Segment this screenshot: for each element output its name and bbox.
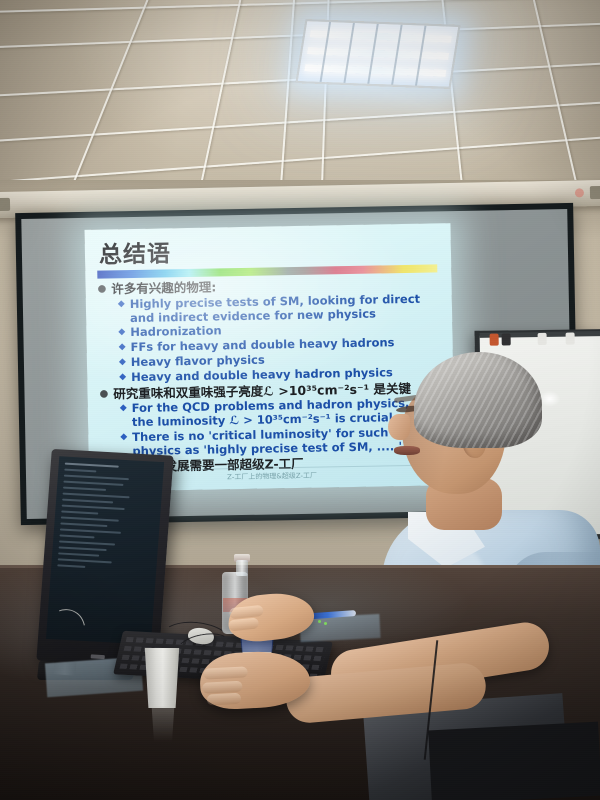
bullet-diamond-icon: ◆ bbox=[119, 341, 126, 354]
whiteboard-magnet-icon bbox=[538, 333, 547, 345]
bullet-diamond-icon: ◆ bbox=[120, 431, 127, 444]
photo-scene: 总结语 ● 许多有兴趣的物理: ◆ Highly precise tests o… bbox=[0, 0, 600, 800]
hair bbox=[414, 352, 542, 448]
nose bbox=[388, 414, 410, 440]
mouth bbox=[394, 446, 420, 455]
screen-bracket-marker bbox=[575, 188, 584, 197]
bullet-diamond-icon: ◆ bbox=[120, 402, 127, 415]
finger bbox=[203, 666, 248, 679]
slide-footer-title: Z-工厂上的物理&超级Z-工厂 bbox=[227, 471, 317, 483]
finger bbox=[202, 681, 243, 694]
whiteboard-magnet-icon bbox=[566, 333, 575, 345]
fluorescent-tube bbox=[304, 64, 447, 76]
slide-bullet-text: 许多有兴趣的物理: bbox=[111, 280, 216, 297]
fluorescent-tube bbox=[307, 47, 450, 59]
finger bbox=[229, 605, 264, 619]
bullet-dot-icon: ● bbox=[97, 282, 106, 296]
ceiling-light-fixture bbox=[295, 19, 460, 89]
finger bbox=[228, 617, 259, 631]
monitor-content bbox=[57, 463, 158, 576]
roller-end-cap bbox=[0, 198, 10, 211]
fluorescent-tube bbox=[309, 30, 452, 42]
slide-title: 总结语 bbox=[99, 234, 172, 269]
finger bbox=[207, 693, 242, 706]
roller-end-cap bbox=[590, 186, 600, 199]
status-led-icon bbox=[318, 620, 321, 623]
bullet-diamond-icon: ◆ bbox=[119, 371, 126, 384]
slide-bullet-text: Highly precise tests of SM, looking for … bbox=[130, 292, 430, 325]
ceiling bbox=[0, 0, 600, 186]
hair-strands bbox=[414, 352, 542, 448]
bullet-dot-icon: ● bbox=[99, 387, 108, 401]
bullet-diamond-icon: ◆ bbox=[119, 356, 126, 369]
status-led-icon bbox=[324, 622, 327, 625]
whiteboard-magnet-icon bbox=[502, 333, 511, 345]
whiteboard-magnet-icon bbox=[490, 334, 499, 346]
bullet-diamond-icon: ◆ bbox=[118, 326, 125, 339]
paper-cup-2[interactable] bbox=[142, 648, 182, 708]
bullet-diamond-icon: ◆ bbox=[118, 298, 125, 311]
chair-shadow bbox=[428, 722, 600, 800]
